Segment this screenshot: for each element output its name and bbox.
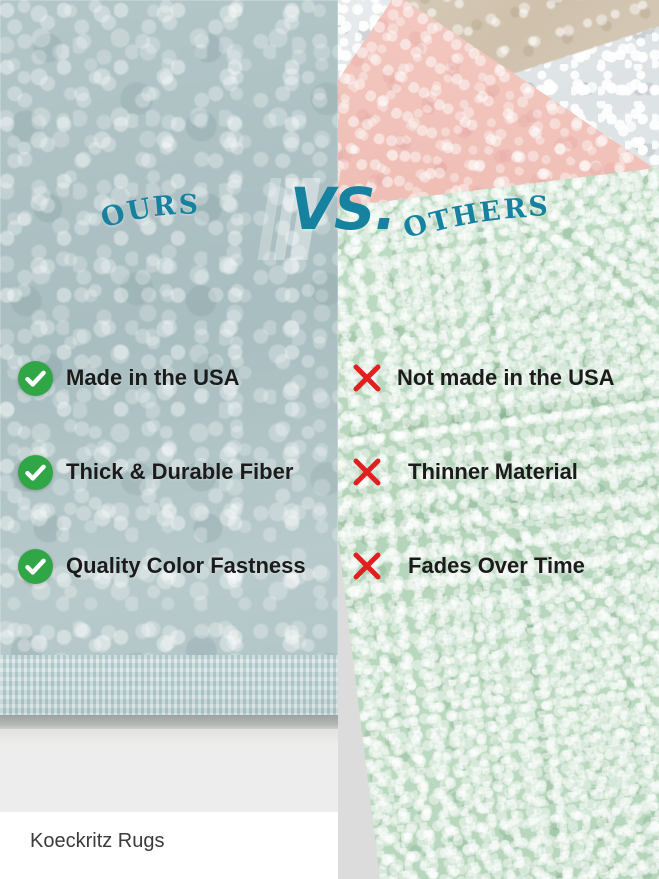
comparison-infographic: OURS VS. OTHERS: [0, 0, 659, 879]
others-feature-cell: Fades Over Time: [350, 543, 585, 589]
footer-grey-band: [0, 745, 338, 812]
ours-floor-surface: [0, 729, 338, 745]
header-band: OURS VS. OTHERS: [0, 170, 659, 270]
ours-feature-label: Quality Color Fastness: [66, 555, 306, 577]
check-circle-icon: [18, 549, 53, 584]
others-feature-cell: Thinner Material: [350, 449, 578, 495]
vs-badge: VS.: [258, 176, 388, 262]
check-circle-icon: [18, 455, 53, 490]
ours-feature-cell: Quality Color Fastness: [18, 543, 306, 589]
ours-feature-cell: Made in the USA: [18, 355, 240, 401]
others-feature-label: Fades Over Time: [408, 555, 585, 577]
others-heading: OTHERS: [400, 186, 553, 240]
others-heading-text: OTHERS: [400, 186, 553, 240]
ours-feature-cell: Thick & Durable Fiber: [18, 449, 293, 495]
comparison-row: Thick & Durable Fiber Thinner Material: [0, 449, 659, 543]
ours-feature-label: Made in the USA: [66, 367, 240, 389]
comparison-rows: Made in the USA Not made in the USA: [0, 355, 659, 637]
others-feature-label: Thinner Material: [408, 461, 578, 483]
product-comparison-image: OURS VS. OTHERS: [0, 0, 659, 879]
others-feature-label: Not made in the USA: [397, 367, 615, 389]
ours-heading-text: OURS: [98, 185, 202, 230]
comparison-row: Made in the USA Not made in the USA: [0, 355, 659, 449]
x-mark-icon: [350, 361, 384, 395]
check-circle-icon: [18, 361, 53, 396]
comparison-row: Quality Color Fastness Fades Over Time: [0, 543, 659, 637]
ours-heading: OURS: [98, 185, 202, 230]
x-mark-icon: [350, 455, 384, 489]
brand-caption: Koeckritz Rugs: [30, 830, 165, 853]
x-mark-icon: [350, 549, 384, 583]
ours-feature-label: Thick & Durable Fiber: [66, 461, 293, 483]
vs-heading-text: VS.: [290, 180, 396, 238]
others-feature-cell: Not made in the USA: [350, 355, 615, 401]
ours-rug-binding-edge: [0, 655, 338, 717]
